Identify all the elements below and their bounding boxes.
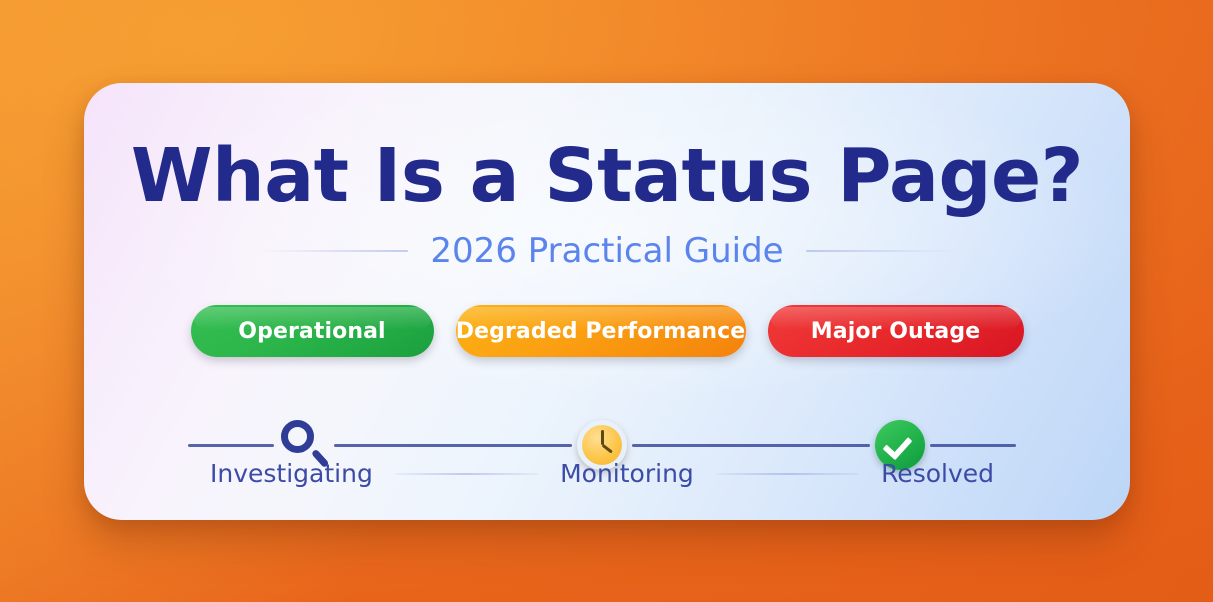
status-badge-major-outage[interactable]: Major Outage [768, 305, 1024, 357]
timeline-connector-start [188, 444, 274, 447]
status-page-card: What Is a Status Page? 2026 Practical Gu… [84, 83, 1130, 520]
subtitle-rule-left [260, 250, 408, 252]
timeline-label-investigating: Investigating [210, 459, 373, 489]
timeline-label-resolved: Resolved [881, 459, 994, 489]
timeline-label-row: Investigating Monitoring Resolved [188, 459, 1016, 489]
timeline-connector-end [930, 444, 1016, 447]
subtitle-rule-right [806, 250, 954, 252]
status-badge-major-outage-label: Major Outage [811, 319, 981, 344]
status-badge-operational-label: Operational [238, 319, 385, 344]
subtitle-row: 2026 Practical Guide [84, 231, 1130, 271]
status-badge-row: Operational Degraded Performance Major O… [84, 305, 1130, 357]
poster-background: What Is a Status Page? 2026 Practical Gu… [0, 0, 1213, 602]
page-title: What Is a Status Page? [84, 135, 1130, 217]
page-subtitle: 2026 Practical Guide [430, 231, 783, 271]
timeline-label-monitoring: Monitoring [560, 459, 694, 489]
incident-lifecycle-timeline: Investigating Monitoring Resolved [188, 401, 1016, 505]
timeline-connector-1 [334, 444, 572, 447]
status-badge-operational[interactable]: Operational [191, 305, 434, 357]
timeline-label-connector-1 [395, 473, 538, 475]
timeline-connector-2 [632, 444, 870, 447]
timeline-label-connector-2 [716, 473, 859, 475]
status-badge-degraded-performance[interactable]: Degraded Performance [456, 305, 746, 357]
status-badge-degraded-performance-label: Degraded Performance [456, 319, 746, 344]
